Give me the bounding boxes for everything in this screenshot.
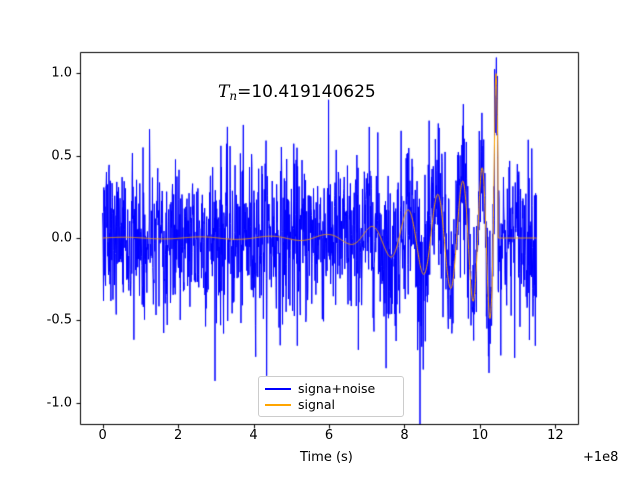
- x-tick-label: 6: [325, 428, 333, 443]
- x-axis-offset-text: +1e8: [583, 450, 618, 465]
- title-value: 10.419140625: [251, 82, 375, 102]
- x-tick-label: 12: [547, 428, 564, 443]
- chart-title: Tn=10.419140625: [218, 82, 376, 103]
- title-equals: =: [237, 82, 251, 102]
- y-tick-label: 0.0: [51, 231, 72, 246]
- x-tick-label: 8: [400, 428, 408, 443]
- legend-entry-signa-noise: signa+noise: [265, 381, 397, 397]
- y-tick-label: 0.5: [51, 148, 72, 163]
- legend-entry-signal: signal: [265, 397, 397, 413]
- y-tick-label: 1.0: [51, 66, 72, 81]
- matplotlib-figure: Tn=10.419140625 Time (s) +1e8 024681012 …: [0, 0, 640, 480]
- title-variable: T: [218, 82, 229, 102]
- title-subscript: n: [229, 89, 237, 103]
- y-tick-label: -0.5: [47, 313, 72, 328]
- x-tick-label: 2: [174, 428, 182, 443]
- x-tick-label: 4: [249, 428, 257, 443]
- x-tick-label: 10: [472, 428, 489, 443]
- y-tick-label: -1.0: [47, 395, 72, 410]
- x-axis-label: Time (s): [300, 450, 353, 465]
- legend-label-signa-noise: signa+noise: [298, 382, 375, 396]
- legend-label-signal: signal: [298, 398, 335, 412]
- legend-swatch-signa-noise: [265, 388, 291, 390]
- chart-legend[interactable]: signa+noise signal: [258, 376, 404, 417]
- legend-swatch-signal: [265, 404, 291, 406]
- x-tick-label: 0: [98, 428, 106, 443]
